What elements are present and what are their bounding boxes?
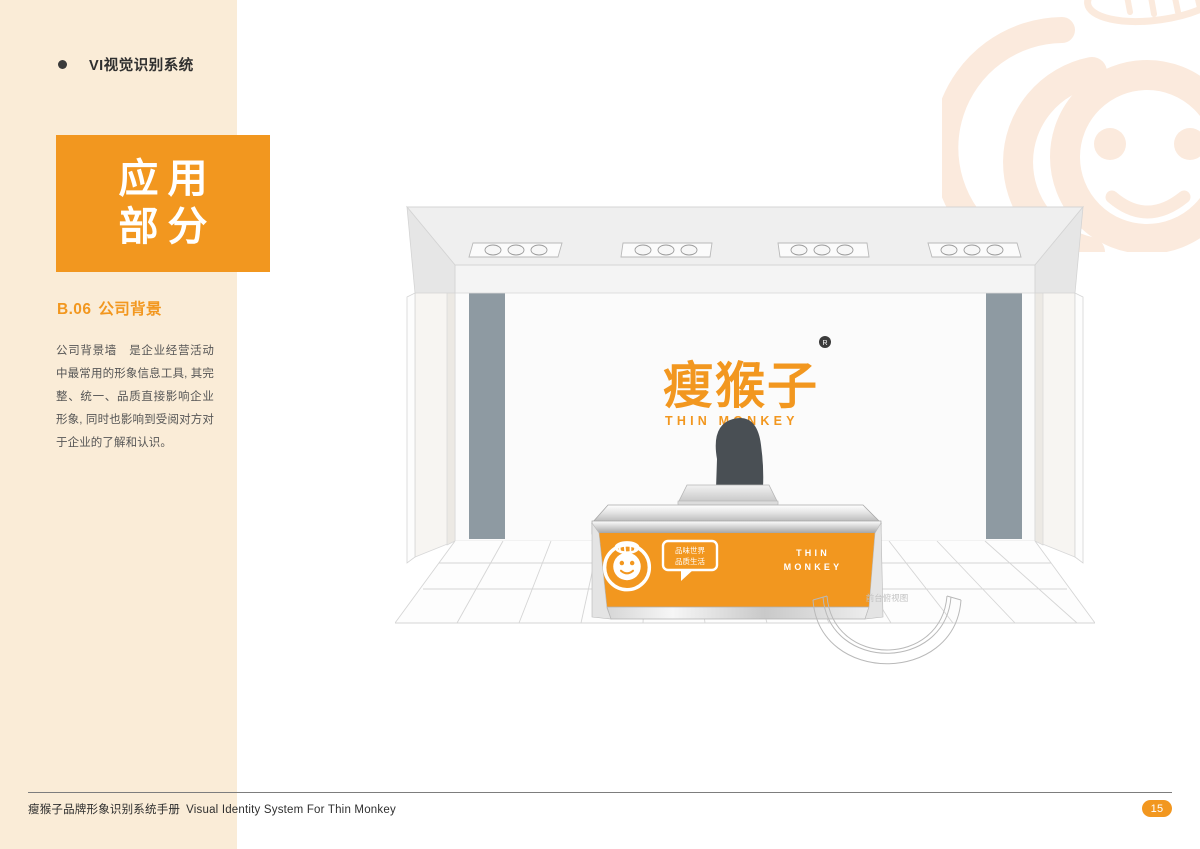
footer-title-en: Visual Identity System For Thin Monkey — [186, 804, 396, 816]
page-number-badge: 15 — [1142, 800, 1172, 817]
svg-text:R: R — [822, 340, 827, 347]
section-title-line-1: 应用 — [110, 156, 217, 203]
svg-text:品味世界: 品味世界 — [675, 545, 705, 555]
section-title-line-2: 部分 — [110, 204, 217, 251]
section-code: B.06 — [57, 301, 91, 318]
footer-title-cn: 瘦猴子品牌形象识别系统手册 — [28, 804, 180, 816]
footer-divider — [28, 792, 1172, 793]
page-header: VI视觉识别系统 — [58, 54, 194, 75]
reception-desk: 品味世界 品质生活 THIN MONKEY — [592, 505, 883, 619]
reception-lobby-rendering: 瘦猴子 R THIN MONKEY — [395, 185, 1095, 695]
page-header-title: VI视觉识别系统 — [89, 54, 194, 75]
section-description: 公司背景墙 是企业经营活动中最常用的形象信息工具, 其完整、统一、品质直接影响企… — [56, 340, 214, 455]
top-view-caption-text: 前台俯视图 — [866, 593, 909, 603]
receptionist-silhouette-icon — [716, 418, 764, 489]
svg-text:MONKEY: MONKEY — [784, 562, 843, 572]
footer-title: 瘦猴子品牌形象识别系统手册Visual Identity System For … — [28, 801, 396, 817]
svg-text:瘦猴子: 瘦猴子 — [663, 358, 819, 414]
bullet-dot-icon — [58, 60, 67, 69]
svg-text:THIN: THIN — [796, 548, 830, 558]
section-heading: B.06公司背景 — [57, 297, 162, 319]
section-name: 公司背景 — [98, 301, 162, 318]
section-title-box: 应用 部分 — [56, 135, 270, 272]
svg-text:品质生活: 品质生活 — [675, 556, 705, 566]
page-root: VI视觉识别系统 应用 部分 B.06公司背景 公司背景墙 是企业经营活动中最常… — [0, 0, 1200, 849]
